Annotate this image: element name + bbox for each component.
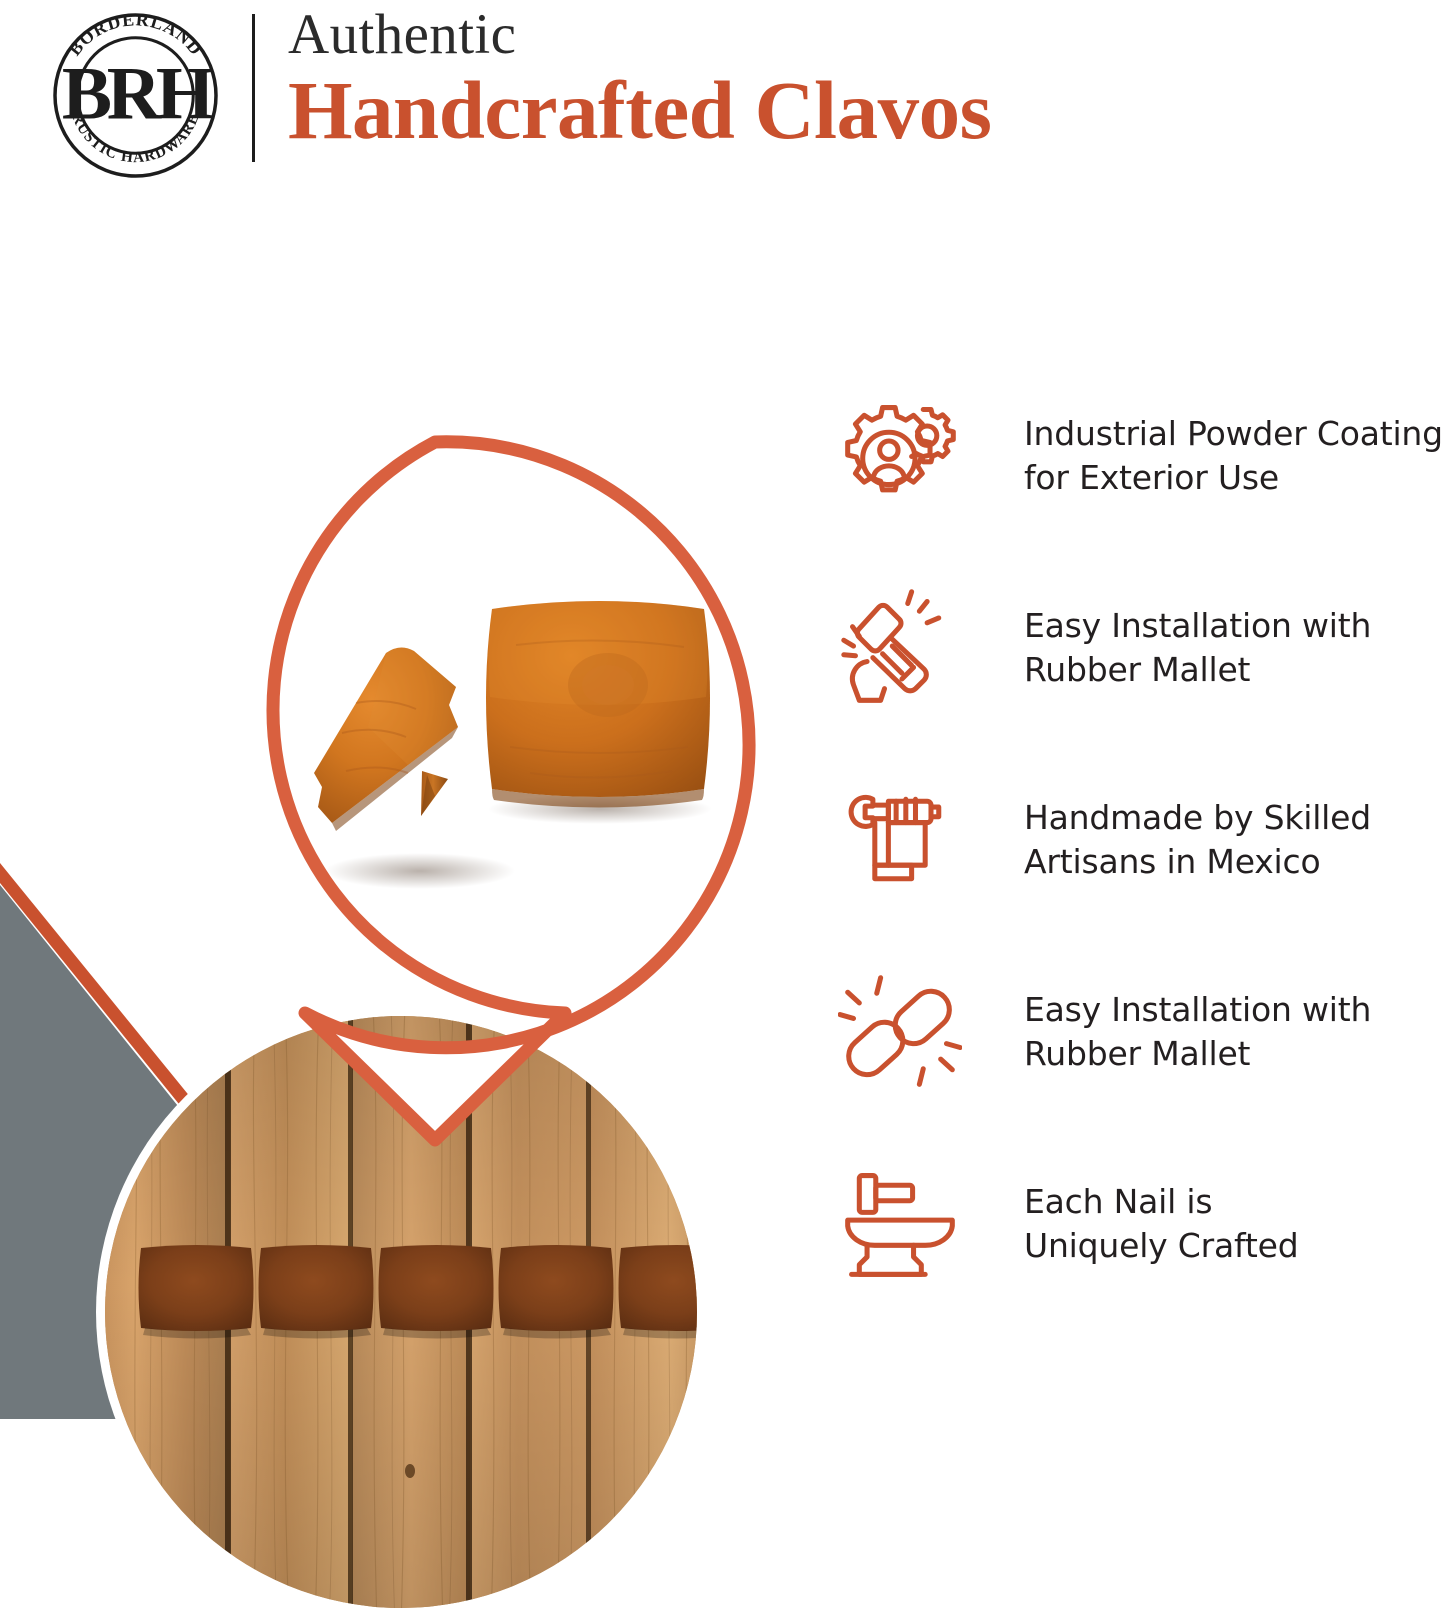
gears-person-icon — [836, 392, 964, 520]
feature-label: Industrial Powder Coating for Exterior U… — [1024, 412, 1443, 500]
feature-line1: Industrial Powder Coating — [1024, 412, 1443, 456]
clavo-face — [486, 601, 710, 808]
feature-line2: Rubber Mallet — [1024, 648, 1371, 692]
chain-link-icon — [836, 968, 964, 1096]
fist-wrench-icon — [836, 776, 964, 904]
feature-item: Easy Installation with Rubber Mallet — [836, 552, 1445, 744]
feature-label: Easy Installation with Rubber Mallet — [1024, 604, 1371, 692]
feature-line2: Artisans in Mexico — [1024, 840, 1371, 884]
feature-label: Each Nail is Uniquely Crafted — [1024, 1180, 1298, 1268]
feature-item: Handmade by Skilled Artisans in Mexico — [836, 744, 1445, 936]
feature-line1: Handmade by Skilled — [1024, 796, 1371, 840]
feature-label: Easy Installation with Rubber Mallet — [1024, 988, 1371, 1076]
feature-line2: Rubber Mallet — [1024, 1032, 1371, 1076]
page-title: Authentic Handcrafted Clavos — [288, 4, 991, 154]
product-visual-area — [0, 190, 790, 1419]
infographic-canvas: BORDERLAND RUSTIC HARDWARE BRH Authentic… — [0, 0, 1445, 1419]
feature-line1: Each Nail is — [1024, 1180, 1298, 1224]
feature-item: Industrial Powder Coating for Exterior U… — [836, 360, 1445, 552]
hand-spray-gun-icon — [836, 584, 964, 712]
anvil-hammer-icon — [836, 1160, 964, 1288]
clavo-angled — [314, 647, 458, 831]
logo-monogram: BRH — [62, 52, 214, 135]
feature-item: Each Nail is Uniquely Crafted — [836, 1128, 1445, 1320]
clavos-product-photo — [280, 557, 735, 977]
header: BORDERLAND RUSTIC HARDWARE BRH Authentic… — [0, 0, 1445, 190]
brand-logo: BORDERLAND RUSTIC HARDWARE BRH — [48, 8, 223, 183]
feature-line1: Easy Installation with — [1024, 988, 1371, 1032]
title-authentic: Authentic — [288, 4, 991, 66]
feature-list: Industrial Powder Coating for Exterior U… — [836, 360, 1445, 1320]
feature-item: Easy Installation with Rubber Mallet — [836, 936, 1445, 1128]
feature-line2: Uniquely Crafted — [1024, 1224, 1298, 1268]
feature-line2: for Exterior Use — [1024, 456, 1443, 500]
title-handcrafted-clavos: Handcrafted Clavos — [288, 66, 991, 154]
feature-label: Handmade by Skilled Artisans in Mexico — [1024, 796, 1371, 884]
feature-line1: Easy Installation with — [1024, 604, 1371, 648]
product-closeup-callout — [110, 422, 760, 1212]
header-divider — [252, 14, 255, 162]
